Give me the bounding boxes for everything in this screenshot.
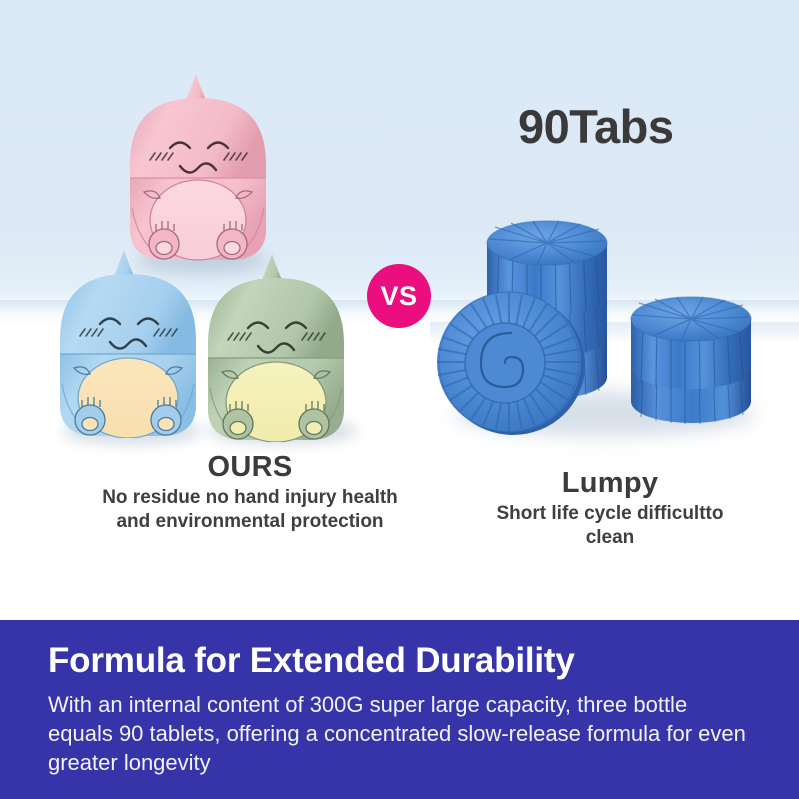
green-dinosaur-bottle xyxy=(196,252,356,442)
vs-badge-label: VS xyxy=(380,283,417,310)
comparison-scene: 90Tabs xyxy=(0,0,799,620)
caption-ours: OURS No residue no hand injury health an… xyxy=(100,452,400,533)
banner-body: With an internal content of 300G super l… xyxy=(48,690,748,778)
tabs-count-heading: 90Tabs xyxy=(518,103,674,150)
vs-badge: VS xyxy=(367,264,431,328)
blue-dinosaur-bottle xyxy=(48,248,208,438)
caption-lumpy: Lumpy Short life cycle difficultto clean xyxy=(475,468,745,549)
pink-dinosaur-bottle xyxy=(118,68,278,268)
caption-lumpy-title: Lumpy xyxy=(475,468,745,500)
feature-banner: Formula for Extended Durability With an … xyxy=(0,620,799,799)
competitor-tablets xyxy=(425,205,785,445)
caption-ours-title: OURS xyxy=(100,452,400,484)
tablet-stack-right xyxy=(631,297,751,424)
caption-lumpy-body: Short life cycle difficultto clean xyxy=(475,502,745,550)
banner-title: Formula for Extended Durability xyxy=(48,642,755,681)
product-comparison-image: 90Tabs xyxy=(0,0,799,799)
caption-ours-body: No residue no hand injury health and env… xyxy=(100,486,400,534)
